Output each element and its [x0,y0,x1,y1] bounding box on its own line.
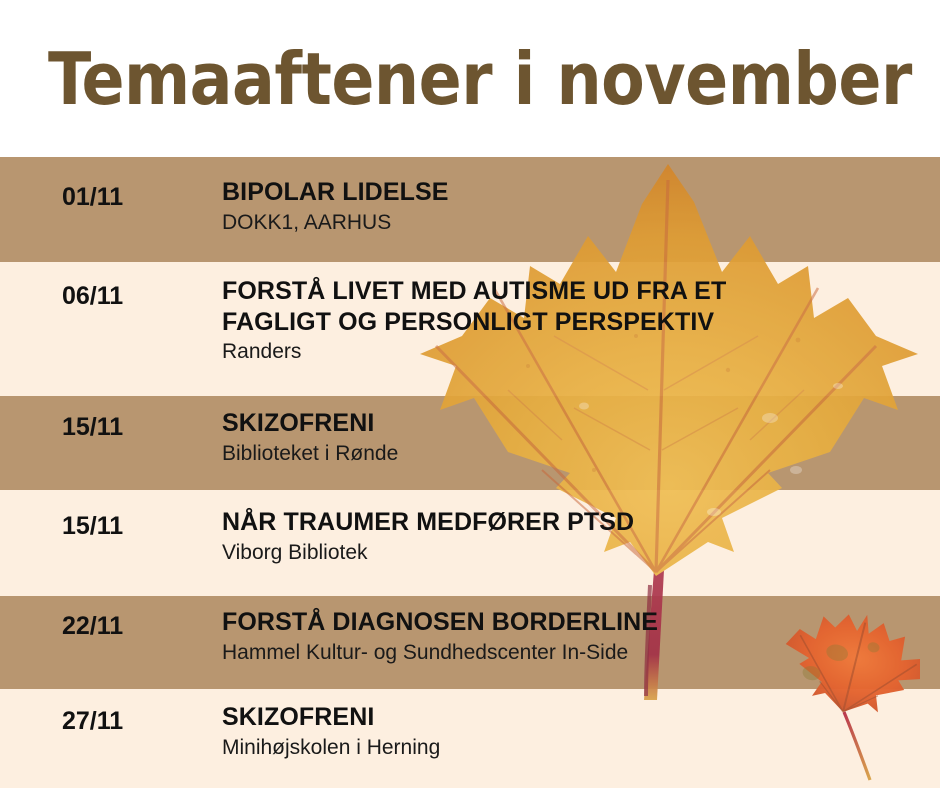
event-venue: Minihøjskolen i Herning [222,735,930,761]
event-venue: Biblioteket i Rønde [222,441,930,467]
event-venue: Hammel Kultur- og Sundhedscenter In-Side [222,640,930,666]
event-date: 22/11 [62,612,123,641]
event-title: SKIZOFRENI [222,702,930,733]
poster-header: Temaaftener i november [0,0,940,157]
event-venue: Randers [222,339,930,365]
event-venue: DOKK1, AARHUS [222,210,930,236]
event-date: 27/11 [62,707,123,736]
event-date: 15/11 [62,512,123,541]
event-date: 06/11 [62,282,123,311]
schedule-row[interactable]: 22/11 FORSTÅ DIAGNOSEN BORDERLINE Hammel… [0,596,940,689]
event-body: NÅR TRAUMER MEDFØRER PTSD Viborg Bibliot… [222,507,930,566]
event-body: FORSTÅ LIVET MED AUTISME UD FRA ET FAGLI… [222,276,930,365]
event-venue: Viborg Bibliotek [222,540,930,566]
event-body: SKIZOFRENI Minihøjskolen i Herning [222,702,930,761]
event-title: FORSTÅ DIAGNOSEN BORDERLINE [222,607,930,638]
event-title: FORSTÅ LIVET MED AUTISME UD FRA ET FAGLI… [222,276,930,337]
schedule-row[interactable]: 01/11 BIPOLAR LIDELSE DOKK1, AARHUS [0,157,940,262]
event-date: 15/11 [62,413,123,442]
schedule-row[interactable]: 27/11 SKIZOFRENI Minihøjskolen i Herning [0,689,940,788]
event-title: NÅR TRAUMER MEDFØRER PTSD [222,507,930,538]
schedule-row[interactable]: 15/11 NÅR TRAUMER MEDFØRER PTSD Viborg B… [0,490,940,596]
schedule-list: 01/11 BIPOLAR LIDELSE DOKK1, AARHUS 06/1… [0,157,940,788]
poster-canvas: Temaaftener i november 01/11 BIPOLAR LID… [0,0,940,788]
event-body: FORSTÅ DIAGNOSEN BORDERLINE Hammel Kultu… [222,607,930,666]
event-date: 01/11 [62,183,123,212]
event-body: BIPOLAR LIDELSE DOKK1, AARHUS [222,177,930,236]
event-title: SKIZOFRENI [222,408,930,439]
schedule-row[interactable]: 06/11 FORSTÅ LIVET MED AUTISME UD FRA ET… [0,262,940,396]
event-title: BIPOLAR LIDELSE [222,177,930,208]
page-title: Temaaftener i november [48,43,912,115]
schedule-row[interactable]: 15/11 SKIZOFRENI Biblioteket i Rønde [0,396,940,490]
event-body: SKIZOFRENI Biblioteket i Rønde [222,408,930,467]
